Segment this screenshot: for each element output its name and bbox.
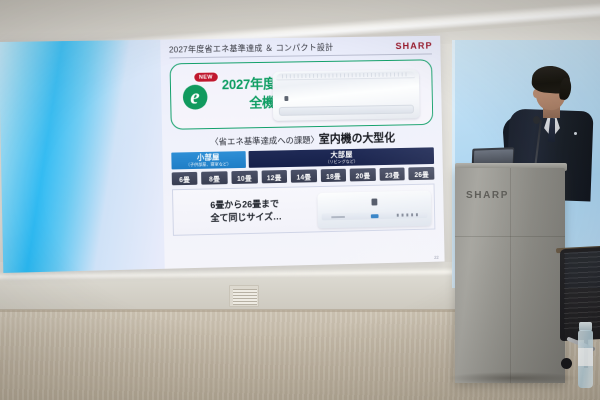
room-size-bars: 小部屋 （子供部屋、寝室など） 大部屋 （リビングなど） [171, 147, 434, 169]
tatami-chip: 10畳 [231, 171, 257, 184]
tatami-chip: 26畳 [409, 167, 435, 180]
eco-e-mark-icon: e [182, 85, 207, 110]
ac-indicator-led [284, 96, 288, 101]
tatami-chip: 14畳 [291, 169, 317, 182]
slide-header: 2027年度省エネ基準達成 ＆ コンパクト設計 SHARP [169, 41, 432, 61]
same-size-line2: 全て同じサイズ… [210, 211, 282, 223]
slide-header-title: 2027年度省エネ基準達成 ＆ コンパクト設計 [169, 42, 333, 54]
podium-shadow [448, 372, 578, 384]
tatami-chip: 6畳 [171, 172, 197, 185]
tatami-chip: 18畳 [320, 169, 346, 182]
eco-standard-banner: e NEW 2027年度省エネ基準 全機種達成 [169, 59, 433, 129]
room-bar-small: 小部屋 （子供部屋、寝室など） [171, 151, 246, 169]
vent-slats-icon [233, 289, 257, 305]
tatami-chip: 23畳 [379, 168, 405, 181]
tatami-size-chips: 6畳8畳10畳12畳14畳18畳20畳23畳26畳 [171, 167, 434, 185]
ac-display-light [371, 214, 379, 218]
ac-vent-line [331, 216, 345, 218]
tatami-chip: 20畳 [350, 168, 376, 181]
room-bar-large: 大部屋 （リビングなど） [248, 147, 434, 167]
podium-panel-seam [455, 236, 565, 237]
room-bar-large-sublabel: （リビングなど） [325, 159, 357, 164]
same-size-line1: 6畳から26畳まで [210, 199, 279, 210]
ac-body-secondary [317, 190, 431, 228]
microphone-icon [533, 116, 540, 124]
conference-room-photo: 2027年度省エネ基準達成 ＆ コンパクト設計 SHARP e NEW 2027… [0, 0, 600, 400]
air-conditioner-image-secondary [317, 190, 431, 228]
tatami-chip: 8畳 [201, 171, 227, 184]
chair-mesh-back [564, 251, 600, 331]
section-heading-prefix: 〈省エネ基準達成への課題〉 [210, 135, 319, 147]
lapel-pin [574, 132, 577, 135]
presentation-slide: 2027年度省エネ基準達成 ＆ コンパクト設計 SHARP e NEW 2027… [160, 36, 445, 269]
section-heading-title: 室内機の大型化 [319, 132, 395, 145]
projection-screen: 2027年度省エネ基準達成 ＆ コンパクト設計 SHARP e NEW 2027… [0, 36, 445, 273]
ac-sensor-dots [396, 213, 417, 216]
room-bar-large-label: 大部屋 [330, 151, 352, 159]
wall-vent [229, 285, 259, 307]
tatami-chip: 12畳 [261, 170, 287, 183]
slide-page-number: 22 [434, 255, 439, 260]
chair-caster [561, 358, 572, 369]
air-conditioner-image [272, 69, 420, 121]
sharp-logo: SHARP [395, 41, 432, 51]
podium-edge [510, 168, 511, 383]
same-size-panel: 6畳から26畳まで 全て同じサイズ… [172, 184, 436, 236]
room-bar-small-label: 小部屋 [197, 154, 220, 162]
bottle-label [578, 348, 593, 366]
section-heading: 〈省エネ基準達成への課題〉室内機の大型化 [171, 130, 434, 150]
podium-sharp-logo: SHARP [466, 190, 509, 201]
eco-mark-letter: e [190, 86, 200, 108]
same-size-text: 6畳から26畳まで 全て同じサイズ… [210, 198, 282, 224]
ac-brand-badge [371, 199, 377, 206]
room-bar-small-sublabel: （子供部屋、寝室など） [186, 162, 231, 167]
